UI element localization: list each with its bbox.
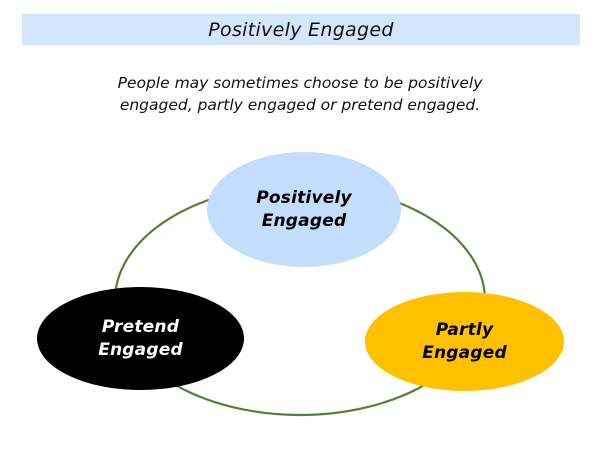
subtitle-line-1: People may sometimes choose to be positi…	[60, 72, 540, 94]
node-positively-engaged-label: Positively Engaged	[256, 187, 352, 232]
node-pretend-engaged-label: Pretend Engaged	[98, 316, 183, 361]
page-title: Positively Engaged	[208, 19, 393, 41]
title-banner: Positively Engaged	[22, 14, 580, 45]
cycle-diagram: Positively Engaged Pretend Engaged Partl…	[0, 130, 600, 440]
node-partly-engaged-label: Partly Engaged	[422, 319, 507, 364]
subtitle-text: People may sometimes choose to be positi…	[60, 72, 540, 116]
node-partly-engaged[interactable]: Partly Engaged	[365, 292, 564, 391]
node-positively-engaged[interactable]: Positively Engaged	[207, 152, 401, 267]
slide-canvas: Positively Engaged People may sometimes …	[0, 0, 600, 450]
node-pretend-engaged[interactable]: Pretend Engaged	[37, 287, 244, 390]
subtitle-line-2: engaged, partly engaged or pretend engag…	[60, 94, 540, 116]
